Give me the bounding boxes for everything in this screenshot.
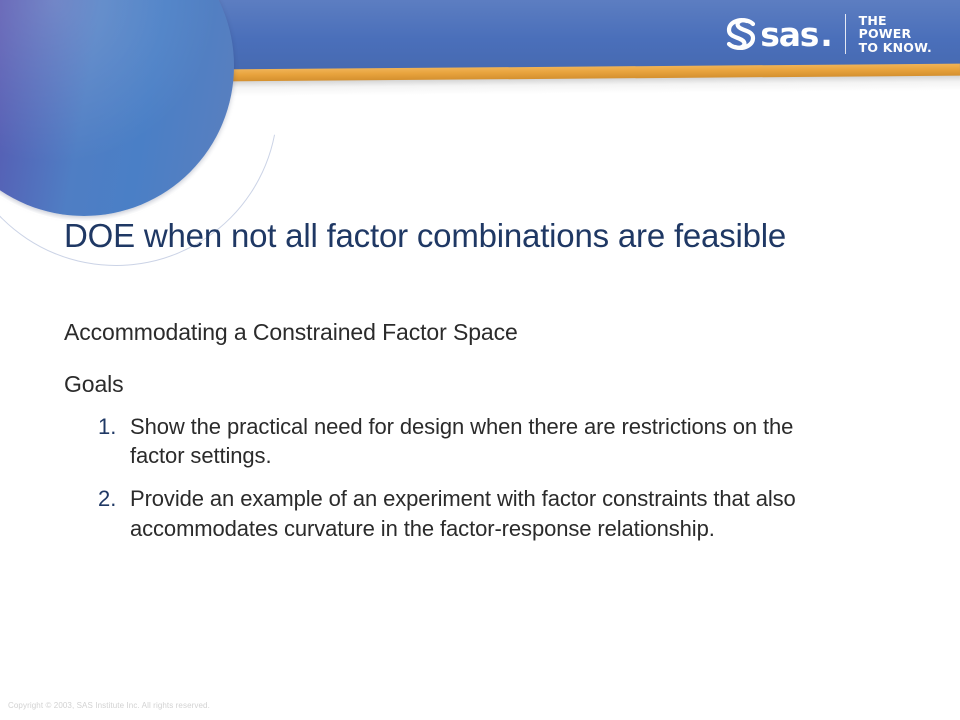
sas-divider-icon xyxy=(845,14,846,54)
goals-list: 1. Show the practical need for design wh… xyxy=(64,412,904,543)
sas-wordmark-period: . xyxy=(820,18,831,51)
page-title: DOE when not all factor combinations are… xyxy=(64,217,944,255)
list-item-number: 1. xyxy=(98,412,130,441)
sas-wordmark-text: sas xyxy=(760,18,818,51)
list-item: 1. Show the practical need for design wh… xyxy=(98,412,904,471)
presentation-slide: sas . THE POWER TO KNOW. xyxy=(0,0,960,720)
sas-tagline: THE POWER TO KNOW. xyxy=(859,14,932,55)
list-item-number: 2. xyxy=(98,484,130,513)
sas-wordmark-group: sas . xyxy=(724,16,831,52)
goals-heading: Goals xyxy=(64,370,904,400)
jmp-circle-badge-icon: jmp ® xyxy=(0,0,234,216)
list-item: 2. Provide an example of an experiment w… xyxy=(98,484,904,543)
sas-tagline-line-2: POWER xyxy=(859,27,932,41)
slide-content: Accommodating a Constrained Factor Space… xyxy=(64,318,904,557)
slide-subtitle: Accommodating a Constrained Factor Space xyxy=(64,318,904,348)
sas-tagline-line-3: TO KNOW. xyxy=(859,41,932,55)
sas-swirl-icon xyxy=(724,16,758,52)
list-item-label: Show the practical need for design when … xyxy=(130,412,820,471)
sas-logo: sas . THE POWER TO KNOW. xyxy=(724,11,932,57)
sas-tagline-line-1: THE xyxy=(859,14,932,28)
list-item-label: Provide an example of an experiment with… xyxy=(130,484,820,543)
copyright-footer: Copyright © 2003, SAS Institute Inc. All… xyxy=(8,701,210,710)
jmp-disc-shape xyxy=(0,0,234,216)
